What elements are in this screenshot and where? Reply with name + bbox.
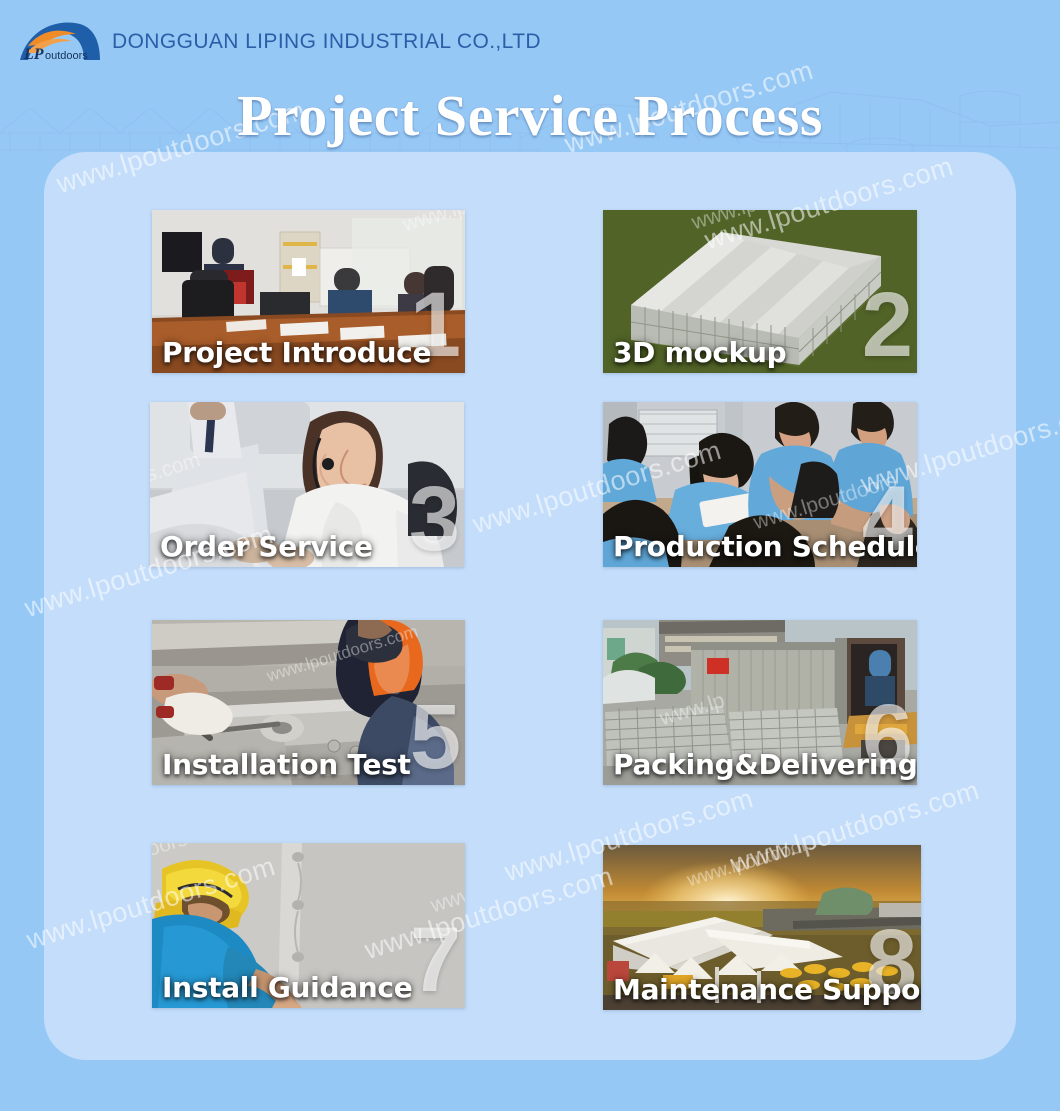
step-card-3[interactable]: doors.com 3 Order Service [150, 402, 464, 567]
step-card-2[interactable]: www.lp 2 3D mockup [603, 210, 917, 373]
step-card-1[interactable]: www.lp 1 Project Introduce [152, 210, 465, 373]
step-card-7[interactable]: tdoors www.lp 7 Install Guidance [152, 843, 465, 1008]
svg-text:outdoors: outdoors [45, 50, 88, 62]
svg-text:LP: LP [23, 46, 44, 63]
company-name: DONGGUAN LIPING INDUSTRIAL CO.,LTD [112, 30, 541, 54]
step-label: Installation Test [162, 748, 411, 781]
page-header: LP outdoors DONGGUAN LIPING INDUSTRIAL C… [0, 0, 1060, 88]
step-card-5[interactable]: www.lpoutdoors.com 5 Installation Test [152, 620, 465, 785]
process-steps-grid: www.lp 1 Project Introduce [0, 0, 1060, 1111]
step-number: 3 [409, 473, 458, 565]
step-card-6[interactable]: www.lp 6 Packing&Delivering [603, 620, 917, 785]
step-number: 5 [410, 691, 459, 783]
step-number: 7 [410, 914, 459, 1006]
step-label: 3D mockup [613, 336, 786, 369]
page-title: Project Service Process [0, 82, 1060, 149]
lp-outdoors-logo-icon: LP outdoors [14, 18, 102, 64]
step-label: Maintenance Support [613, 973, 921, 1006]
step-label: Project Introduce [162, 336, 431, 369]
step-card-4[interactable]: www.lpoutdoors 4 Production Schedule [603, 402, 917, 567]
step-number: 2 [862, 279, 911, 371]
step-label: Install Guidance [162, 971, 412, 1004]
brand-block: LP outdoors DONGGUAN LIPING INDUSTRIAL C… [14, 18, 541, 64]
step-label: Production Schedule [613, 530, 917, 563]
step-card-8[interactable]: www.lpoutdoors 8 Maintenance Support [603, 845, 921, 1010]
step-label: Packing&Delivering [613, 748, 917, 781]
step-label: Order Service [160, 530, 373, 563]
